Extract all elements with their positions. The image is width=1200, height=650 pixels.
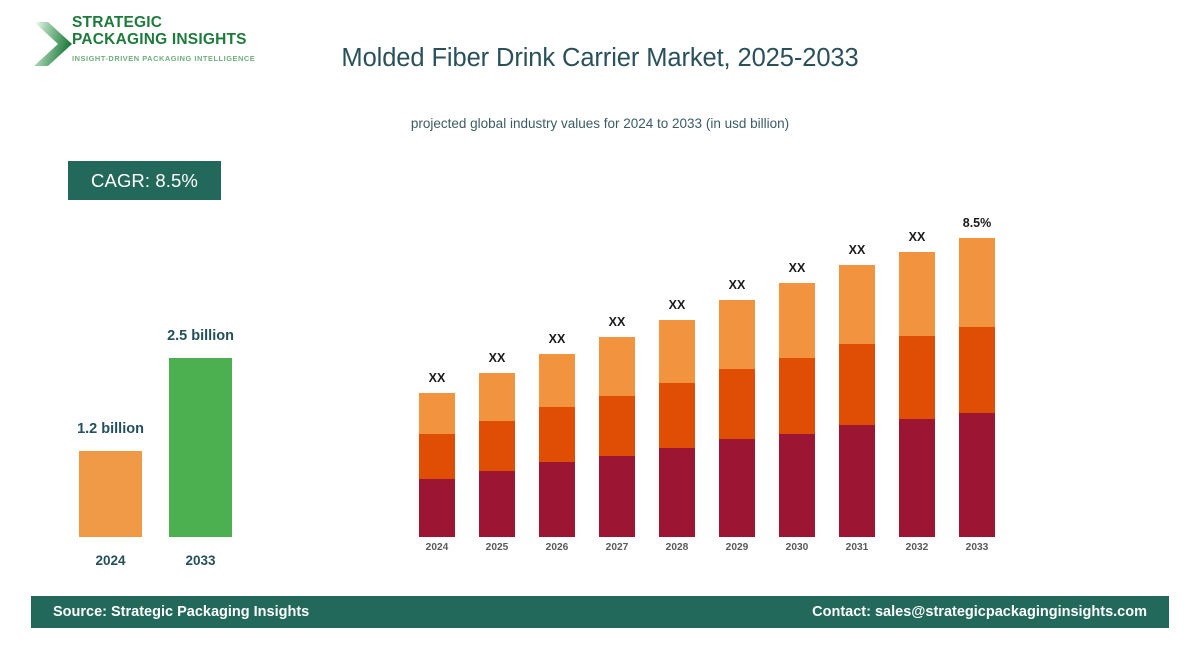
infographic-page: STRATEGIC PACKAGING INSIGHTS INSIGHT-DRI…: [0, 0, 1200, 650]
stacked-bar-2024: XX2024: [419, 393, 455, 537]
stack-top-label-2032: XX: [885, 230, 949, 244]
footer-bar: Source: Strategic Packaging Insights Con…: [31, 596, 1169, 628]
stack-top-label-2030: XX: [765, 261, 829, 275]
stack-top-label-2031: XX: [825, 243, 889, 257]
stacked-bar-2033: 8.5%2033: [959, 238, 995, 537]
stack-segment-segment-3-2031: [839, 265, 875, 344]
stack-segment-segment-1-2028: [659, 448, 695, 537]
stack-top-label-2033: 8.5%: [945, 216, 1009, 230]
stack-segment-segment-3-2033: [959, 238, 995, 327]
stack-segment-segment-1-2025: [479, 471, 515, 537]
stacked-bar-2026: XX2026: [539, 354, 575, 537]
stack-segment-segment-3-2024: [419, 393, 455, 434]
footer-source: Source: Strategic Packaging Insights: [53, 604, 309, 620]
bar-value-label-2033: 2.5 billion: [145, 328, 256, 344]
stack-segment-segment-2-2028: [659, 383, 695, 448]
stack-top-label-2027: XX: [585, 315, 649, 329]
stack-segment-segment-2-2032: [899, 336, 935, 419]
stack-year-label-2027: 2027: [585, 542, 649, 553]
stack-segment-segment-3-2026: [539, 354, 575, 407]
endpoint-bar-chart: 1.2 billion20242.5 billion2033: [0, 0, 300, 650]
stack-segment-segment-1-2032: [899, 419, 935, 537]
footer-contact: Contact: sales@strategicpackaginginsight…: [812, 604, 1147, 620]
stacked-bar-2031: XX2031: [839, 265, 875, 537]
stack-segment-segment-3-2027: [599, 337, 635, 396]
stack-top-label-2025: XX: [465, 351, 529, 365]
stack-top-label-2029: XX: [705, 278, 769, 292]
stack-segment-segment-2-2033: [959, 327, 995, 413]
bar-value-label-2024: 1.2 billion: [55, 421, 166, 437]
stack-segment-segment-3-2028: [659, 320, 695, 383]
bar-rect-2024: [79, 451, 142, 537]
stack-segment-segment-2-2029: [719, 369, 755, 439]
stack-top-label-2026: XX: [525, 332, 589, 346]
stack-segment-segment-1-2024: [419, 479, 455, 537]
stack-top-label-2024: XX: [405, 371, 469, 385]
stack-year-label-2026: 2026: [525, 542, 589, 553]
stack-segment-segment-1-2033: [959, 413, 995, 537]
stack-segment-segment-3-2032: [899, 252, 935, 336]
stack-year-label-2024: 2024: [405, 542, 469, 553]
stack-segment-segment-1-2029: [719, 439, 755, 537]
stack-year-label-2031: 2031: [825, 542, 889, 553]
stack-segment-segment-3-2030: [779, 283, 815, 358]
stack-segment-segment-2-2030: [779, 358, 815, 434]
stack-segment-segment-1-2026: [539, 462, 575, 537]
stack-segment-segment-2-2024: [419, 434, 455, 479]
stack-year-label-2028: 2028: [645, 542, 709, 553]
stack-segment-segment-3-2029: [719, 300, 755, 369]
stack-segment-segment-2-2031: [839, 344, 875, 425]
stack-segment-segment-2-2025: [479, 421, 515, 471]
stack-segment-segment-1-2027: [599, 456, 635, 537]
stack-segment-segment-1-2031: [839, 425, 875, 537]
stack-year-label-2030: 2030: [765, 542, 829, 553]
segmented-stacked-bar-chart: XX2024XX2025XX2026XX2027XX2028XX2029XX20…: [400, 0, 1040, 650]
stack-year-label-2033: 2033: [945, 542, 1009, 553]
stack-year-label-2025: 2025: [465, 542, 529, 553]
stack-year-label-2029: 2029: [705, 542, 769, 553]
endpoint-bar-2033: 2.5 billion2033: [169, 0, 232, 537]
endpoint-bar-2024: 1.2 billion2024: [79, 0, 142, 537]
stack-top-label-2028: XX: [645, 298, 709, 312]
stack-year-label-2032: 2032: [885, 542, 949, 553]
stack-segment-segment-1-2030: [779, 434, 815, 537]
stacked-bar-2027: XX2027: [599, 337, 635, 537]
stack-segment-segment-2-2026: [539, 407, 575, 462]
stacked-bar-2028: XX2028: [659, 320, 695, 537]
stacked-bar-2030: XX2030: [779, 283, 815, 537]
bar-year-label-2033: 2033: [145, 553, 256, 568]
stack-segment-segment-3-2025: [479, 373, 515, 421]
bar-rect-2033: [169, 358, 232, 537]
stacked-bar-2025: XX2025: [479, 373, 515, 537]
stacked-bar-2029: XX2029: [719, 300, 755, 537]
stacked-bar-2032: XX2032: [899, 252, 935, 537]
stack-segment-segment-2-2027: [599, 396, 635, 456]
